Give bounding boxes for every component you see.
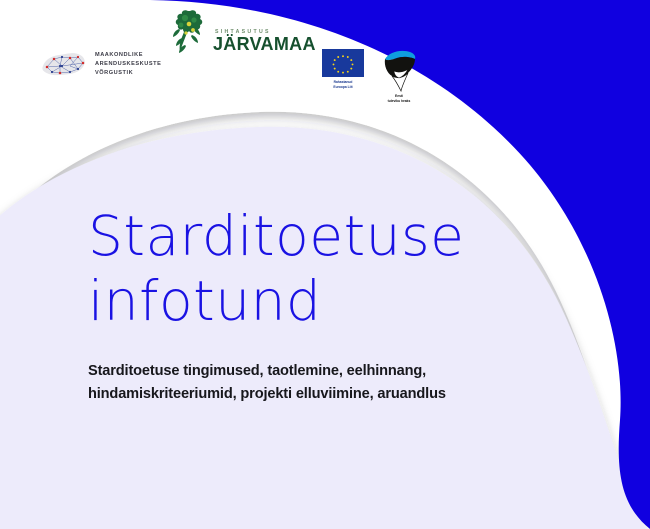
jarvamaa-wordmark-group: SIHTASUTUS JÄRVAMAA [213,29,316,56]
estonia-logo-caption: Eesti tuleviku heaks [381,94,417,104]
slide-content: Starditoetuse infotund Starditoetuse tin… [88,204,608,334]
european-union-funding-logo: Rahastanud Euroopa Liit [322,49,364,90]
mak-logo-text: MAAKONDLIKE ARENDUSKESKUSTE VÕRGUSTIK [95,51,161,78]
presentation-slide: MAAKONDLIKE ARENDUSKESKUSTE VÕRGUSTIK [0,0,650,529]
mak-logo-line-1: MAAKONDLIKE [95,51,161,60]
jarvamaa-wordmark: JÄRVAMAA [213,36,316,53]
slide-subtitle: Starditoetuse tingimused, taotlemine, ee… [88,360,558,406]
estonia-caption-line-2: tuleviku heaks [381,99,417,104]
estonia-network-map-icon [40,49,88,80]
mak-logo-line-2: ARENDUSKESKUSTE [95,60,161,69]
mak-logo-line-3: VÕRGUSTIK [95,69,161,78]
eu-caption-line-2: Euroopa Liit [322,85,364,90]
estonian-state-logo: Eesti tuleviku heaks [381,49,417,104]
eu-flag-icon [322,49,364,77]
logo-strip: MAAKONDLIKE ARENDUSKESKUSTE VÕRGUSTIK [0,0,650,110]
jarvamaa-plant-emblem-icon [168,8,212,56]
eu-logo-caption: Rahastanud Euroopa Liit [322,80,364,90]
funding-logos-group: Rahastanud Euroopa Liit Eesti tuleviku h… [322,49,417,104]
sihtasutus-jarvamaa-logo: SIHTASUTUS JÄRVAMAA [168,8,316,56]
maakondlike-arenduskeskuste-vorgustik-logo: MAAKONDLIKE ARENDUSKESKUSTE VÕRGUSTIK [40,49,161,80]
estonia-flag-swoosh-icon [381,49,417,93]
slide-title: Starditoetuse infotund [88,204,608,334]
